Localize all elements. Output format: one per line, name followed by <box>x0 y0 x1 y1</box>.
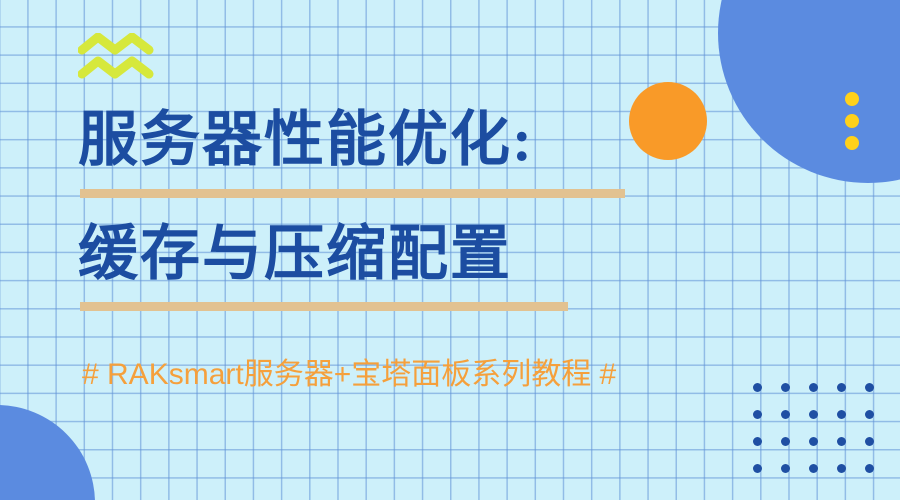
decorative-blue-circle-top-right <box>718 0 900 183</box>
navy-dot-icon <box>781 437 790 446</box>
navy-dot-icon <box>837 464 846 473</box>
page-title-line-1: 服务器性能优化: <box>78 110 534 170</box>
navy-dot-icon <box>781 383 790 392</box>
decorative-orange-circle <box>629 82 707 160</box>
navy-dot-icon <box>837 437 846 446</box>
navy-dot-icon <box>781 410 790 419</box>
yellow-dots-group <box>845 92 859 150</box>
navy-dot-icon <box>837 383 846 392</box>
title-underline-bar-2 <box>80 302 568 311</box>
subtitle-tagline: # RAKsmart服务器+宝塔面板系列教程 # <box>82 357 616 393</box>
zigzag-decoration-icon <box>78 33 154 79</box>
yellow-dot-icon <box>845 136 859 150</box>
navy-dot-icon <box>809 410 818 419</box>
navy-dot-icon <box>809 383 818 392</box>
navy-dot-icon <box>865 464 874 473</box>
navy-dot-icon <box>865 383 874 392</box>
navy-dot-matrix <box>753 383 893 491</box>
navy-dot-icon <box>837 410 846 419</box>
navy-dot-icon <box>753 464 762 473</box>
yellow-dot-icon <box>845 114 859 128</box>
navy-dot-icon <box>865 437 874 446</box>
title-underline-bar-1 <box>80 189 625 198</box>
navy-dot-icon <box>809 437 818 446</box>
navy-dot-icon <box>753 437 762 446</box>
navy-dot-icon <box>865 410 874 419</box>
navy-dot-icon <box>809 464 818 473</box>
navy-dot-icon <box>781 464 790 473</box>
decorative-blue-circle-bottom-left <box>0 405 95 500</box>
navy-dot-icon <box>753 410 762 419</box>
poster-canvas: 服务器性能优化: 缓存与压缩配置 # RAKsmart服务器+宝塔面板系列教程 … <box>0 0 900 500</box>
page-title-line-2: 缓存与压缩配置 <box>78 224 512 284</box>
yellow-dot-icon <box>845 92 859 106</box>
navy-dot-icon <box>753 383 762 392</box>
